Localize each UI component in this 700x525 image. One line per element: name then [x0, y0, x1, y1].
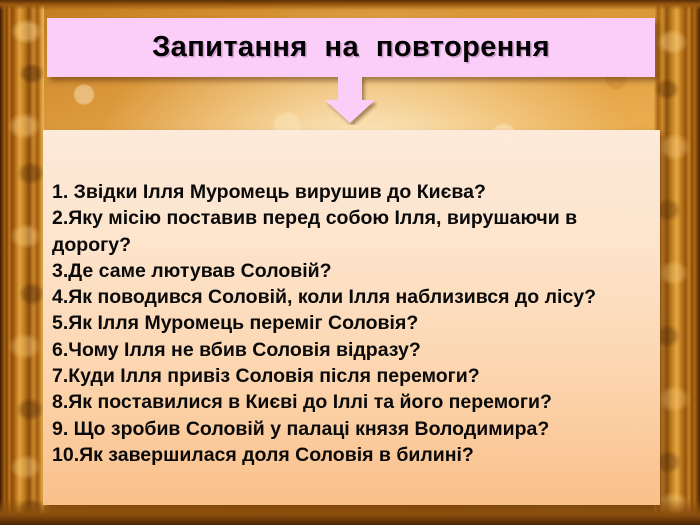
list-item: 3.Де саме лютував Соловій? — [52, 258, 643, 284]
list-item: 5.Як Ілля Муромець переміг Соловія? — [52, 310, 643, 336]
list-item: 1. Звідки Ілля Муромець вирушив до Києва… — [52, 179, 643, 205]
arrow-down-icon — [322, 76, 378, 125]
title-banner: Запитання на повторення — [47, 18, 655, 77]
list-item: 10.Як завершилася доля Соловія в билині? — [52, 442, 643, 468]
list-item: 8.Як поставилися в Києві до Іллі та його… — [52, 389, 643, 415]
list-item: 7.Куди Ілля привіз Соловія після перемог… — [52, 363, 643, 389]
list-item: 2.Яку місію поставив перед собою Ілля, в… — [52, 205, 643, 258]
page-title: Запитання на повторення — [152, 31, 550, 64]
list-item: 4.Як поводився Соловій, коли Ілля наблиз… — [52, 284, 643, 310]
content-panel: 1. Звідки Ілля Муромець вирушив до Києва… — [43, 130, 660, 505]
frame-ornament-right — [654, 0, 700, 525]
frame-ornament-left — [0, 0, 44, 525]
frame-border-top — [0, 0, 700, 10]
list-item: 6.Чому Ілля не вбив Соловія відразу? — [52, 337, 643, 363]
question-list: 1. Звідки Ілля Муромець вирушив до Києва… — [43, 130, 660, 468]
presentation-slide: Запитання на повторення 1. Звідки Ілля М… — [0, 0, 700, 525]
list-item: 9. Що зробив Соловій у палаці князя Воло… — [52, 416, 643, 442]
